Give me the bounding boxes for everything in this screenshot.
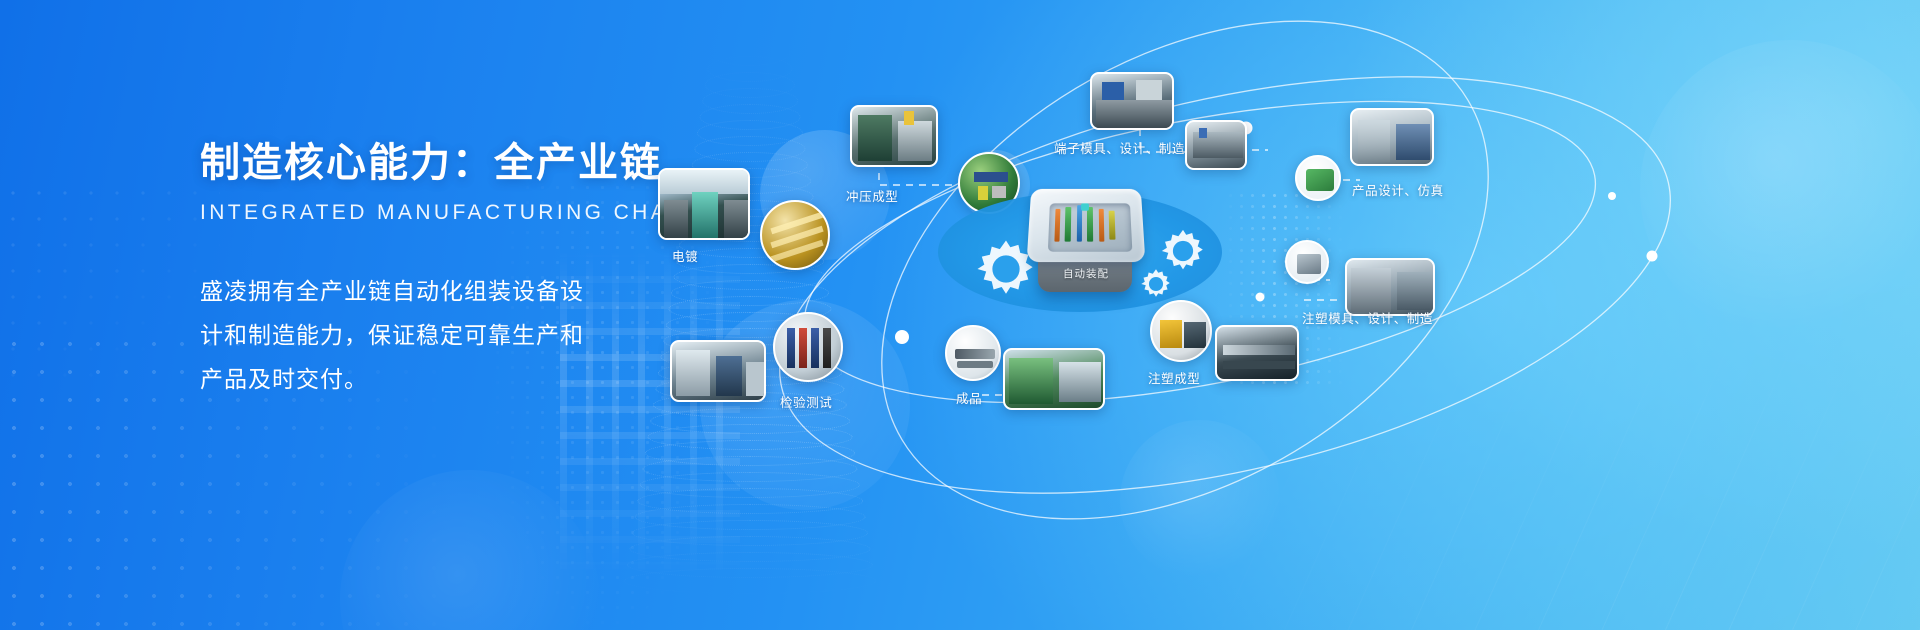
manufacturing-chain-banner: 制造核心能力：全产业链 INTEGRATED MANUFACTURING CHA… [0, 0, 1920, 630]
label-injection-molding: 注塑成型 [1148, 368, 1200, 387]
label-product-design: 产品设计、仿真 [1352, 180, 1444, 199]
supply-chain-diagram: 电镀 冲压成型 [640, 0, 1920, 630]
conveyor-photo[interactable] [1215, 325, 1299, 381]
label-finished-product: 成品 [956, 388, 982, 407]
product-design-icon[interactable] [1295, 155, 1341, 201]
injection-mold-icon[interactable] [1285, 240, 1329, 284]
machine-cavity [1048, 203, 1133, 251]
center-label: 自动装配 [1025, 266, 1147, 281]
label-stamping-forming: 冲压成型 [846, 186, 898, 205]
label-terminal-mold: 端子模具、设计、制造 [1054, 138, 1185, 157]
machine-shell [1027, 189, 1146, 262]
injection-molding-photo[interactable] [1150, 300, 1212, 362]
electroplating-photo[interactable] [658, 168, 750, 240]
gold-coil-photo[interactable] [760, 200, 830, 270]
product-design-photo[interactable] [1350, 108, 1434, 166]
machine-small-photo[interactable] [1185, 120, 1247, 170]
terminal-mold-photo[interactable] [1090, 72, 1174, 130]
stamping-photo[interactable] [850, 105, 938, 167]
bokeh-circle-5 [340, 470, 600, 630]
inspection-photo[interactable] [670, 340, 766, 402]
label-electroplating: 电镀 [672, 246, 698, 265]
label-inspection-testing: 检验测试 [780, 392, 832, 411]
production-line-photo[interactable] [1003, 348, 1105, 410]
halftone-dots-upper-left [0, 180, 220, 380]
label-injection-mold: 注塑模具、设计、制造 [1302, 308, 1433, 327]
finished-product-photo[interactable] [945, 325, 1001, 381]
orbit-rings [640, 0, 1920, 630]
central-assembly-machine[interactable]: 自动装配 [1025, 182, 1147, 300]
testing-rig-photo[interactable] [773, 312, 843, 382]
